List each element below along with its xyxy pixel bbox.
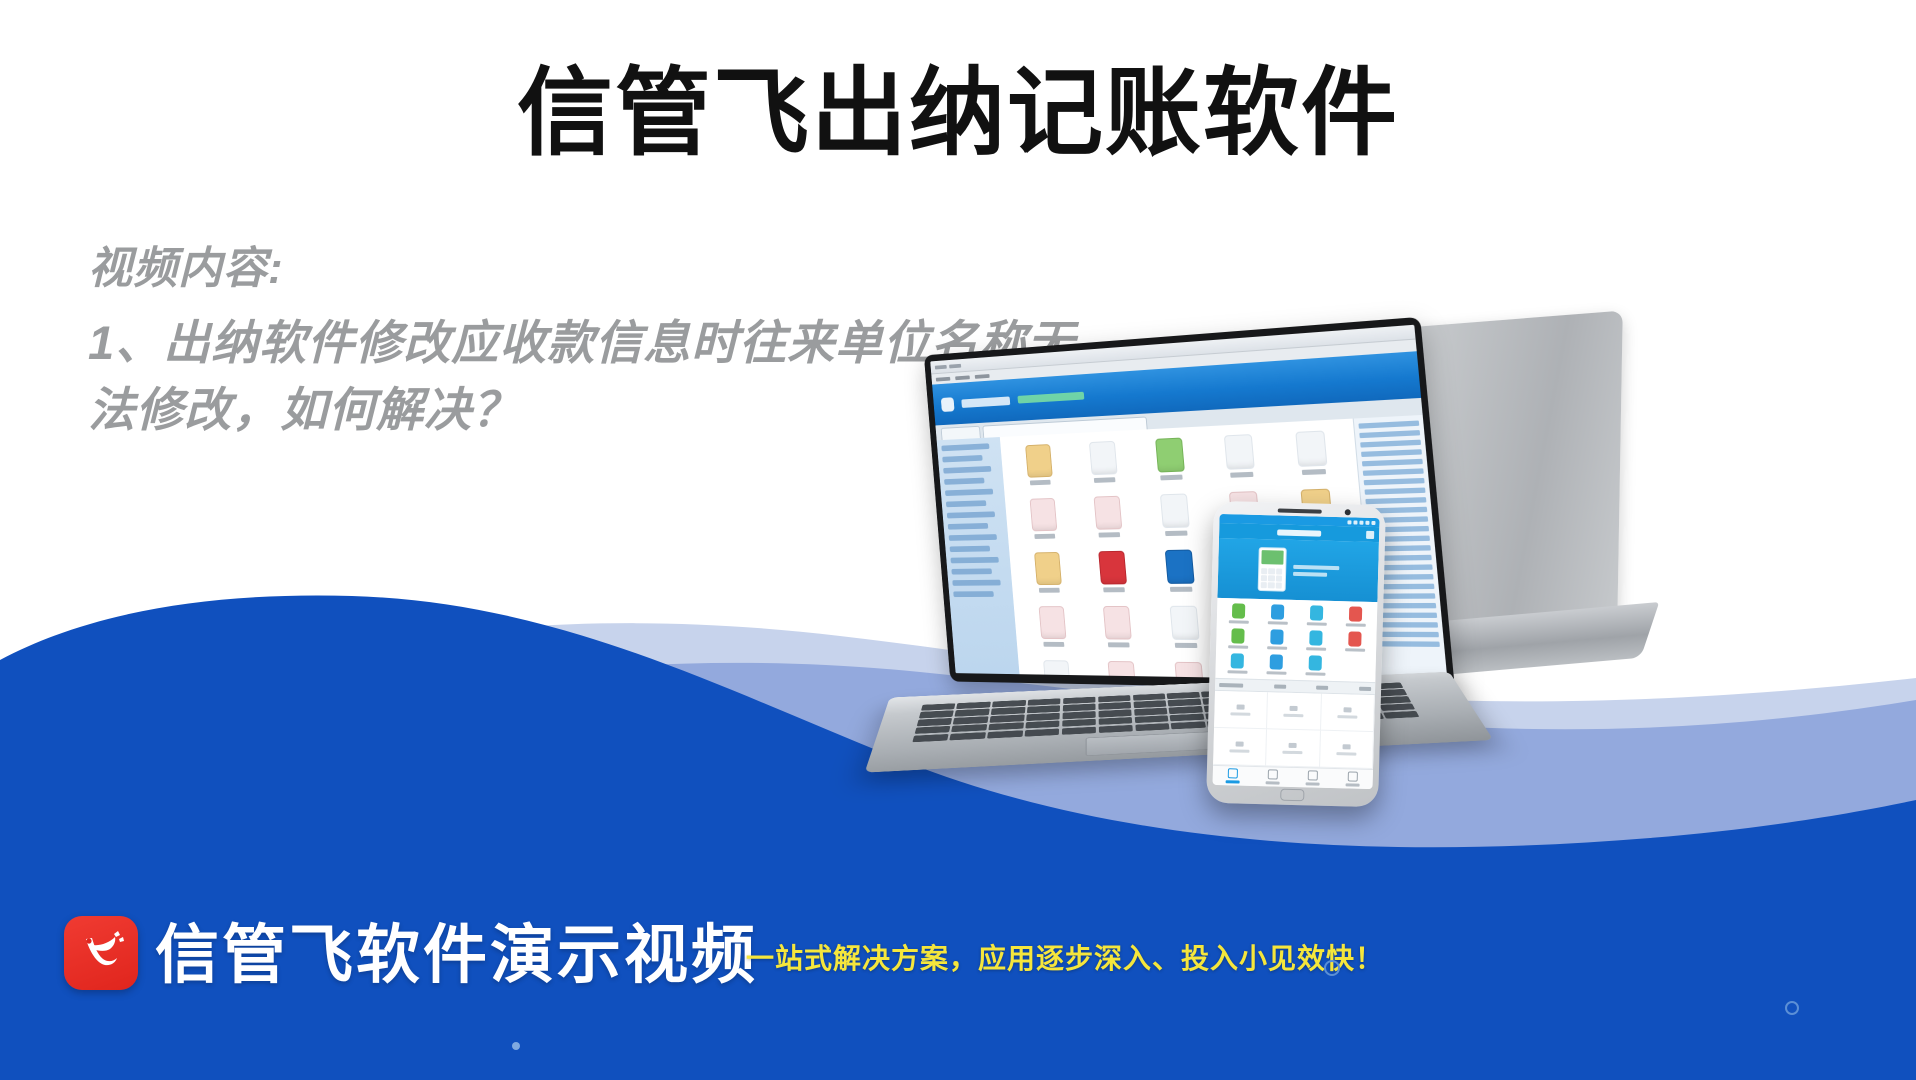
phone-quick-icon: [1258, 629, 1296, 650]
phone-screen-content: [1213, 514, 1380, 789]
desktop-app-logo-icon: [941, 397, 955, 412]
phone-banner-text: [1293, 564, 1339, 576]
desktop-app-icon: [1075, 495, 1141, 546]
smartphone-mobile-app: [1206, 501, 1386, 807]
phone-stat-cell: [1321, 694, 1375, 732]
laptop-keyboard-base: [865, 672, 1494, 773]
brand-footer: 信管飞软件演示视频 一站式解决方案，应用逐步深入、投入小见效快！: [0, 880, 1916, 1080]
desktop-app-icon: [1080, 550, 1147, 600]
phone-stat-cell: [1213, 728, 1267, 766]
phone-tab-reports: [1293, 768, 1333, 788]
decor-dot: [1785, 1001, 1799, 1015]
phone-camera-icon: [1344, 509, 1350, 515]
phone-tab-profile: [1333, 769, 1373, 789]
decor-dot: [1324, 960, 1340, 976]
desktop-app-icon: [1141, 493, 1210, 545]
phone-tab-home: [1213, 766, 1253, 786]
phone-menu-icon: [1366, 530, 1374, 538]
phone-stat-cell: [1266, 729, 1320, 767]
desktop-app-icon: [1137, 437, 1206, 489]
phone-quick-icon: [1259, 604, 1297, 625]
phone-tab-records: [1253, 767, 1293, 787]
laptop-front-open: [880, 336, 1500, 856]
video-content-label: 视频内容:: [88, 238, 1108, 300]
phone-quick-icon: [1296, 655, 1334, 676]
brand-name: 信管飞软件演示视频: [155, 904, 758, 996]
phone-bottom-tabbar: [1213, 765, 1373, 789]
page-title: 信管飞出纳记账软件: [0, 58, 1916, 169]
desktop-app-icon: [1205, 433, 1276, 487]
device-photo-group: [880, 300, 1916, 940]
brand-tagline: 一站式解决方案，应用逐步深入、投入小见效快！: [746, 937, 1384, 977]
phone-stat-cell: [1214, 691, 1268, 729]
phone-quick-icon: [1219, 628, 1257, 649]
phone-home-button-icon: [1280, 789, 1304, 802]
desktop-app-icon: [1085, 606, 1152, 656]
phone-quick-icon: [1218, 653, 1256, 674]
phone-hero-banner: [1217, 538, 1379, 602]
phone-stat-cell: [1267, 692, 1321, 730]
phone-quick-icon: [1337, 606, 1375, 627]
desktop-app-icon: [1021, 606, 1085, 655]
phone-quick-action-grid: [1215, 598, 1377, 682]
desktop-app-icon: [1089, 661, 1156, 682]
phone-quick-icon: [1220, 603, 1258, 624]
phone-stats-grid: [1213, 691, 1375, 769]
phone-quick-icon: [1336, 631, 1374, 652]
desktop-app-icon: [1276, 429, 1350, 484]
desktop-app-brand-subtext: [1017, 392, 1084, 404]
decor-dot: [512, 1042, 520, 1050]
phone-banner-device-icon: [1257, 547, 1286, 592]
phone-quick-icon: [1257, 654, 1295, 675]
phone-quick-icon: [1297, 630, 1335, 651]
phone-quick-icon: [1298, 605, 1336, 626]
desktop-app-icon: [1016, 552, 1080, 601]
phone-app-title: [1277, 529, 1321, 536]
desktop-app-icon: [1012, 497, 1076, 547]
desktop-app-icon: [1025, 660, 1089, 681]
slide-canvas: 信管飞出纳记账软件 视频内容: 1、出纳软件修改应收款信息时往来单位名称无法修改…: [0, 0, 1916, 1080]
feather-bird-logo-icon: [64, 916, 138, 990]
phone-stat-cell: [1320, 731, 1374, 769]
desktop-app-icon: [1008, 443, 1072, 493]
desktop-app-brand-text: [961, 396, 1010, 408]
phone-speaker-icon: [1278, 508, 1322, 513]
desktop-app-icon: [1071, 440, 1137, 491]
desktop-app-icon: [1146, 549, 1215, 600]
